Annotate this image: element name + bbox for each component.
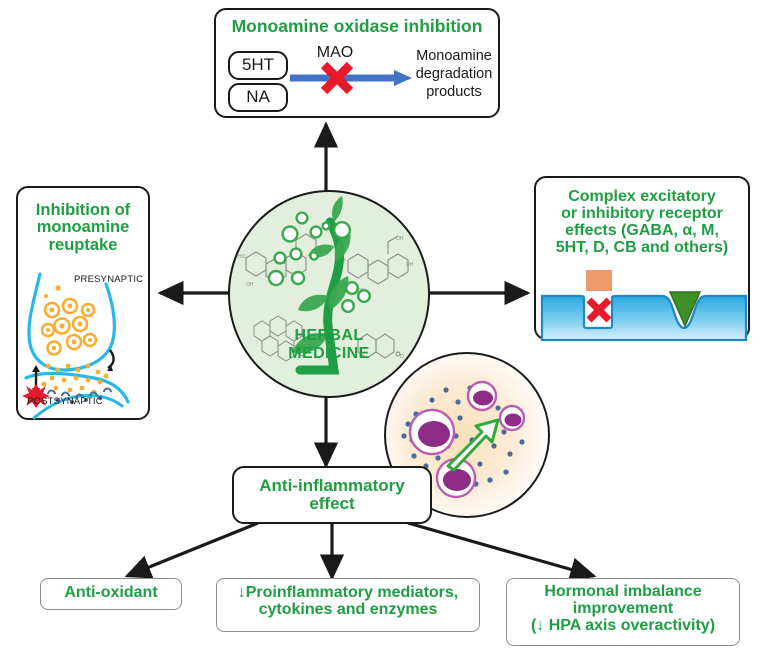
receptor-block-x-icon <box>589 300 609 320</box>
hub-label-line-2: MEDICINE <box>230 346 428 363</box>
arrow-to-antioxidant <box>127 523 258 576</box>
mao-product-line-3: products <box>412 84 496 100</box>
svg-text:OH: OH <box>246 282 254 288</box>
receptor-title-line-1: Complex excitatory <box>536 189 748 206</box>
presynaptic-label: PRESYNAPTIC <box>74 274 143 285</box>
reuptake-inhibition-box[interactable]: Inhibition of monoamine reuptake <box>16 186 150 420</box>
mao-product-line-1: Monoamine <box>412 48 496 64</box>
receptor-title-line-2: or inhibitory receptor <box>536 206 748 223</box>
receptor-effects-box[interactable]: Complex excitatory or inhibitory recepto… <box>534 176 750 340</box>
reuptake-arrow-head-up <box>32 365 40 372</box>
reuptake-title-line-1: Inhibition of <box>18 202 148 219</box>
reuptake-title-line-3: reuptake <box>18 237 148 254</box>
anti-inflammatory-line-2: effect <box>234 495 430 513</box>
blocked-ligand-icon <box>586 270 612 291</box>
outcome-hormonal-line-2: improvement <box>507 601 739 618</box>
svg-text:OH: OH <box>406 262 414 268</box>
hub-label-line-1: HERBAL <box>230 328 428 345</box>
arrow-to-hormonal <box>408 523 594 576</box>
membrane-surface <box>542 296 746 340</box>
outcome-box-proinflammatory[interactable]: ↓Proinflammatory mediators, cytokines an… <box>216 578 480 632</box>
outcome-proinflammatory-line-2: cytokines and enzymes <box>217 602 479 619</box>
inflammation-progression-arrow <box>448 420 498 470</box>
reaction-arrow-head <box>394 70 412 86</box>
immune-cell-top <box>468 382 496 410</box>
herbal-hub-graphics: HO OH R HO OH OH OH <box>230 192 428 396</box>
immune-cell-right <box>500 406 524 430</box>
receptor-membrane-illustration <box>536 278 752 340</box>
receptor-title-line-4: 5HT, D, CB and others) <box>536 240 748 257</box>
herbal-medicine-hub[interactable]: HO OH R HO OH OH OH <box>228 190 430 398</box>
anti-inflammatory-box[interactable]: Anti-inflammatory effect <box>232 466 432 524</box>
outcome-box-antioxidant[interactable]: Anti-oxidant <box>40 578 182 610</box>
mao-inhibition-box[interactable]: Monoamine oxidase inhibition 5HT NA MAO … <box>214 8 500 118</box>
anti-inflammatory-line-1: Anti-inflammatory <box>234 477 430 495</box>
reuptake-title-line-2: monoamine <box>18 219 148 236</box>
synapse-illustration <box>18 266 152 416</box>
outcome-hormonal-line-1: Hormonal imbalance <box>507 584 739 601</box>
diagram-canvas: Monoamine oxidase inhibition 5HT NA MAO … <box>0 0 761 658</box>
immune-cell-large <box>410 410 454 454</box>
outcome-hormonal-line-3: (↓ HPA axis overactivity) <box>507 618 739 635</box>
outcome-box-hormonal[interactable]: Hormonal imbalance improvement (↓ HPA ax… <box>506 578 740 646</box>
outcome-proinflammatory-line-1: ↓Proinflammatory mediators, <box>217 585 479 602</box>
mao-product-line-2: degradation <box>412 66 496 82</box>
outcome-antioxidant-label: Anti-oxidant <box>41 585 181 602</box>
receptor-title-line-3: effects (GABA, α, M, <box>536 223 748 240</box>
mao-reaction-arrow-group <box>216 10 502 120</box>
svg-text:OH: OH <box>396 236 404 242</box>
presynaptic-neuron-outline <box>29 274 114 370</box>
svg-text:HO: HO <box>238 254 246 260</box>
postsynaptic-label: POSTSYNAPTIC <box>27 396 103 407</box>
